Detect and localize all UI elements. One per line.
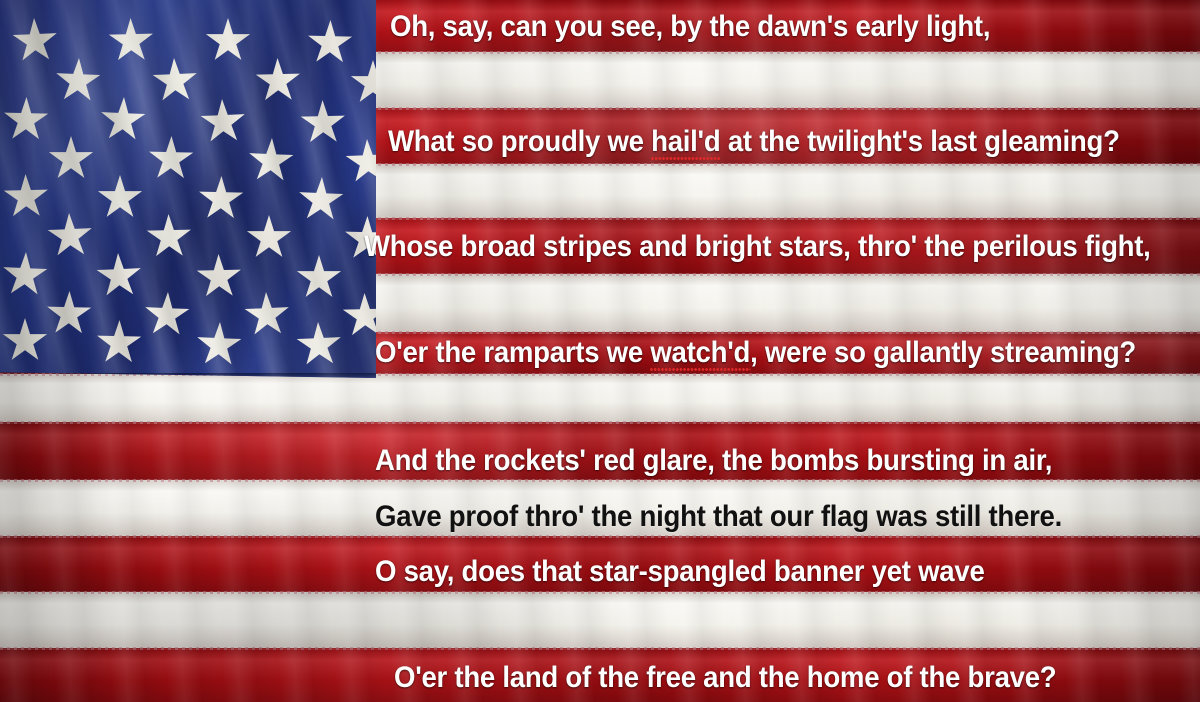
- spellcheck-underlined-word: hail'd: [651, 127, 720, 157]
- lyrics-textbox[interactable]: Oh, say, can you see, by the dawn's earl…: [0, 0, 1200, 702]
- lyric-line-2[interactable]: What so proudly we hail'd at the twiligh…: [388, 127, 1120, 157]
- lyric-line-1[interactable]: Oh, say, can you see, by the dawn's earl…: [390, 12, 990, 42]
- lyric-line-7[interactable]: O say, does that star-spangled banner ye…: [375, 557, 985, 587]
- lyric-line-3[interactable]: Whose broad stripes and bright stars, th…: [364, 232, 1151, 262]
- spellcheck-underlined-word: watch'd: [650, 338, 750, 368]
- lyric-text-segment: Gave proof thro' the night that our flag…: [375, 500, 1062, 533]
- lyric-text-segment: O'er the land of the free and the home o…: [394, 661, 1056, 694]
- lyric-text-segment: at the twilight's last gleaming?: [720, 125, 1119, 158]
- lyric-line-4[interactable]: O'er the ramparts we watch'd, were so ga…: [375, 338, 1136, 368]
- lyric-text-segment: Oh, say, can you see, by the dawn's earl…: [390, 10, 990, 43]
- lyric-text-segment: And the rockets' red glare, the bombs bu…: [375, 444, 1052, 477]
- lyric-line-8[interactable]: O'er the land of the free and the home o…: [394, 663, 1056, 693]
- lyric-text-segment: , were so gallantly streaming?: [750, 336, 1136, 369]
- lyric-text-segment: O'er the ramparts we: [375, 336, 650, 369]
- slide-canvas: Oh, say, can you see, by the dawn's earl…: [0, 0, 1200, 702]
- lyric-text-segment: What so proudly we: [388, 125, 651, 158]
- lyric-text-segment: Whose broad stripes and bright stars, th…: [364, 230, 1151, 263]
- lyric-line-5[interactable]: And the rockets' red glare, the bombs bu…: [375, 446, 1052, 476]
- lyric-text-segment: O say, does that star-spangled banner ye…: [375, 555, 985, 588]
- lyric-line-6[interactable]: Gave proof thro' the night that our flag…: [375, 502, 1062, 532]
